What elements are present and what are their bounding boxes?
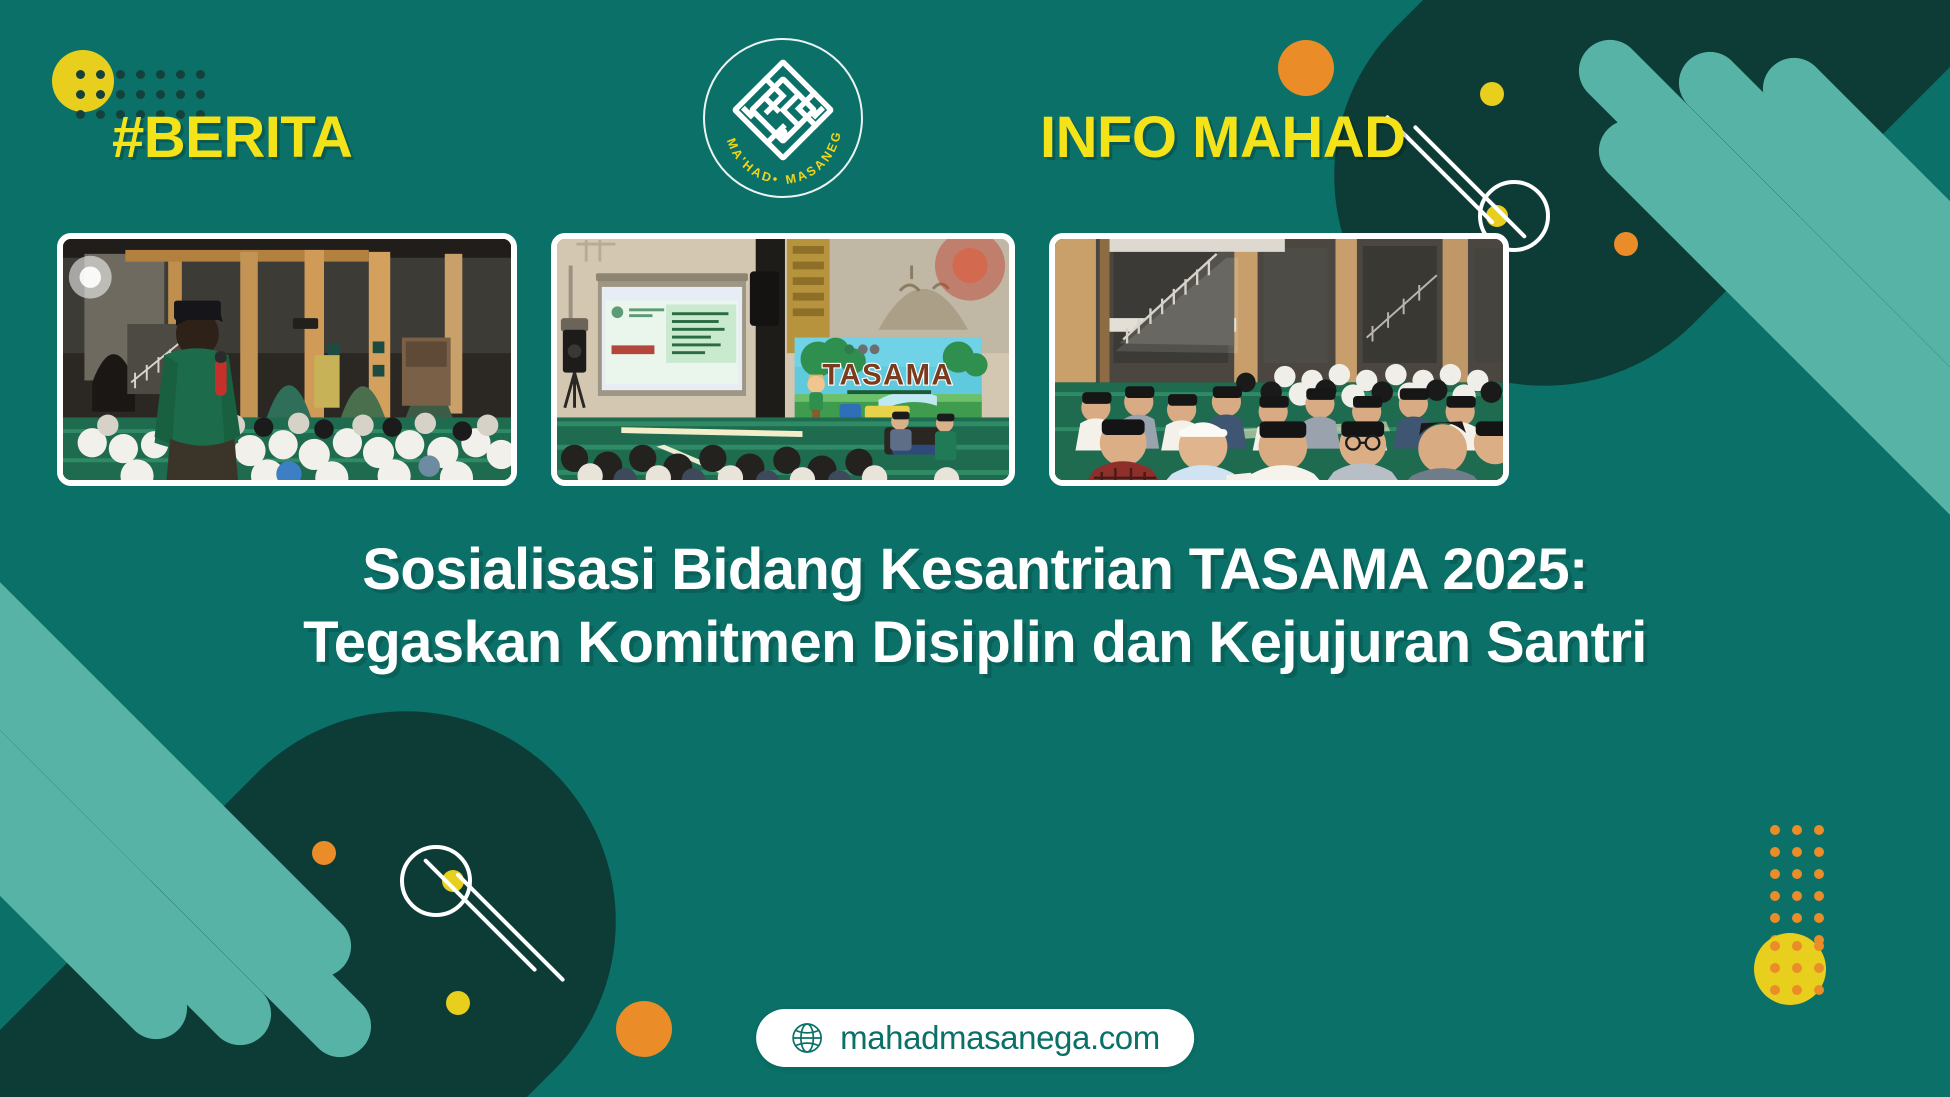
headline-line-2: Tegaskan Komitmen Disiplin dan Kejujuran… <box>70 606 1880 679</box>
mahad-masanega-logo: MA'HAD• MASANEGA <box>703 38 863 198</box>
headline-line-1: Sosialisasi Bidang Kesantrian TASAMA 202… <box>362 537 1587 602</box>
dot-grid-overlay <box>1764 935 1830 1001</box>
white-ring-outline <box>400 845 472 917</box>
yellow-dot-small <box>1480 82 1504 106</box>
poster-canvas: #BERITA INFO MAHAD <box>0 0 1950 1097</box>
yellow-dot-small <box>446 991 470 1015</box>
photo-speaker-with-microphone <box>57 233 517 486</box>
globe-icon <box>790 1021 824 1055</box>
photo-male-students-audience <box>1049 233 1509 486</box>
website-url: mahadmasanega.com <box>840 1019 1160 1057</box>
photo-strip: TASAMA <box>0 233 1950 486</box>
logo-brand-right: MASANEGA <box>703 38 844 187</box>
kicker-info-mahad: INFO MAHAD <box>1040 104 1406 171</box>
page-title: Sosialisasi Bidang Kesantrian TASAMA 202… <box>0 533 1950 679</box>
logo-kufic-mark: MA'HAD• MASANEGA <box>703 38 863 198</box>
orange-dot-large <box>1278 40 1334 96</box>
photo-stage-with-tasama-banner: TASAMA <box>551 233 1015 486</box>
dot-grid <box>1764 819 1830 951</box>
orange-dot-large <box>616 1001 672 1057</box>
decor-dot-grid-bottom-right <box>1742 819 1882 1009</box>
kicker-berita: #BERITA <box>112 104 352 171</box>
orange-dot-small <box>312 841 336 865</box>
website-badge[interactable]: mahadmasanega.com <box>756 1009 1194 1067</box>
banner-title-tasama: TASAMA <box>822 359 954 391</box>
